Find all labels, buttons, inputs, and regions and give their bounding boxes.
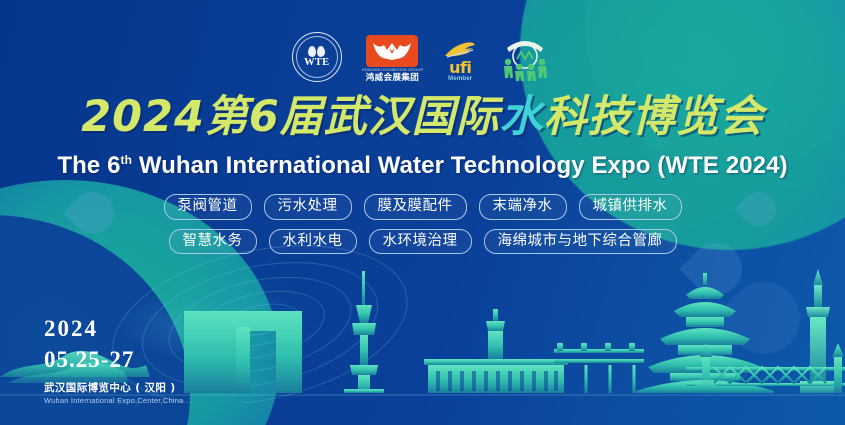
logo-ufi: ufi Member (443, 41, 477, 82)
category-pill-pumps-valves-pipes[interactable]: 泵阀管道 (164, 194, 252, 220)
event-date-venue: 2024 05.25-27 武汉国际博览中心 ( 汉阳 ) Wuhan Inte… (44, 316, 183, 405)
event-venue-cn: 武汉国际博览中心 ( 汉阳 ) (44, 380, 183, 395)
category-pill-sewage-treatment[interactable]: 污水处理 (264, 194, 352, 220)
hongwei-mark-icon (366, 35, 418, 67)
logo-wte: WTE (292, 32, 342, 82)
category-pills: 泵阀管道 污水处理 膜及膜配件 末端净水 城镇供排水 智慧水务 水利水电 水环境… (0, 194, 845, 263)
ufi-logo-text: ufi (449, 60, 471, 76)
title-cn-suffix: 科技博览会 (544, 92, 764, 142)
event-venue-en: Wuhan International Expo,Center,China (44, 396, 183, 405)
logo-hongwei: HONGWEI EXHIBITION GROUP 鸿威会展集团 (362, 35, 424, 82)
wte-logo-icon: WTE (292, 32, 342, 82)
sponsor-logos: WTE HONGWEI EXHIBITION GROUP 鸿威会展集团 ufi … (0, 32, 845, 82)
event-dates: 05.25-27 (44, 346, 183, 374)
title-cn-water-char: 水 (500, 92, 544, 142)
expo-banner: WTE HONGWEI EXHIBITION GROUP 鸿威会展集团 ufi … (0, 0, 845, 425)
category-pills-row-2: 智慧水务 水利水电 水环境治理 海绵城市与地下综合管廊 (0, 229, 845, 255)
wte-logo-text: WTE (304, 58, 329, 69)
event-year: 2024 (44, 316, 183, 342)
page-title-en: The 6th Wuhan International Water Techno… (0, 152, 845, 180)
logo-association (497, 32, 553, 82)
category-pill-hydropower[interactable]: 水利水电 (269, 229, 357, 255)
category-pill-urban-water-supply[interactable]: 城镇供排水 (579, 194, 682, 220)
category-pill-water-environment[interactable]: 水环境治理 (369, 229, 472, 255)
title-cn-prefix: 2024第6届武汉国际 (81, 92, 500, 142)
hongwei-cn-text: 鸿威会展集团 (366, 73, 419, 82)
category-pill-sponge-city[interactable]: 海绵城市与地下综合管廊 (484, 229, 677, 255)
category-pill-smart-water[interactable]: 智慧水务 (169, 229, 257, 255)
title-en-pre: The 6 (57, 152, 120, 179)
category-pills-row-1: 泵阀管道 污水处理 膜及膜配件 末端净水 城镇供排水 (0, 194, 845, 220)
category-pill-membranes[interactable]: 膜及膜配件 (364, 194, 467, 220)
ufi-bird-icon (443, 41, 477, 59)
page-title-cn: 2024第6届武汉国际水科技博览会 (0, 96, 845, 139)
title-en-post: Wuhan International Water Technology Exp… (132, 152, 788, 179)
category-pill-terminal-purification[interactable]: 末端净水 (479, 194, 567, 220)
association-logo-icon (497, 32, 553, 82)
ufi-member-text: Member (448, 76, 472, 82)
title-en-ordinal: th (121, 153, 133, 167)
